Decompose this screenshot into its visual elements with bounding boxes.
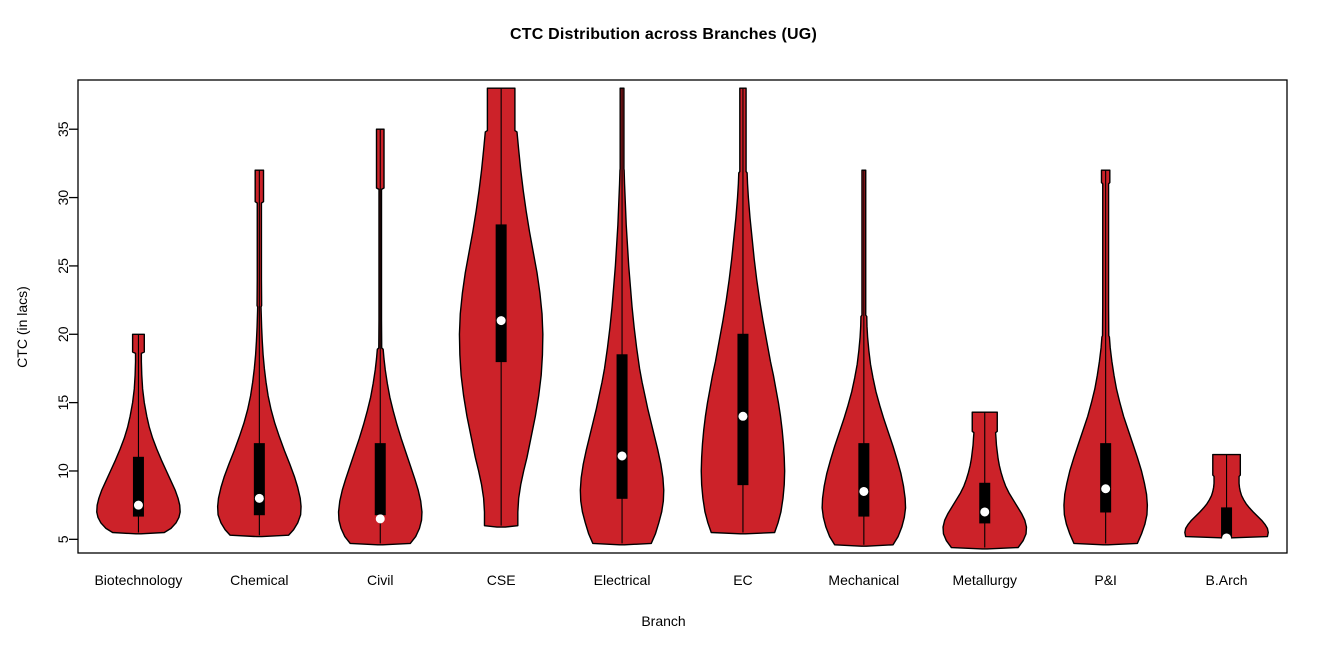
median-marker [1101,485,1109,493]
violin-mechanical [822,170,905,546]
violin-electrical [580,88,663,545]
iqr-box [617,355,627,499]
iqr-box [496,225,506,362]
plot-canvas: 5101520253035BiotechnologyChemicalCivilC… [0,0,1327,653]
x-tick-label: P&I [1094,572,1117,588]
y-tick-label: 20 [55,326,71,342]
median-marker [134,501,142,509]
x-axis-label: Branch [0,613,1327,629]
median-marker [255,494,263,502]
x-tick-label: B.Arch [1206,572,1248,588]
y-tick-label: 25 [55,258,71,274]
x-tick-label: Metallurgy [952,572,1017,588]
violin-chemical [218,170,301,536]
violin-b-arch [1185,455,1268,543]
x-tick-label: EC [733,572,752,588]
iqr-box [859,444,869,516]
x-tick-label: Electrical [594,572,651,588]
violin-metallurgy [943,412,1026,549]
y-tick-label: 30 [55,190,71,206]
median-marker [497,316,505,324]
violin-cse [459,88,542,527]
x-tick-label: Mechanical [828,572,899,588]
iqr-box [1222,508,1232,537]
x-tick-label: Chemical [230,572,288,588]
median-marker [376,515,384,523]
iqr-box [980,483,990,523]
x-tick-label: Civil [367,572,393,588]
median-marker [618,452,626,460]
median-marker [981,508,989,516]
iqr-box [1101,444,1111,512]
y-tick-label: 10 [55,463,71,479]
y-tick-label: 15 [55,395,71,411]
x-tick-label: CSE [487,572,516,588]
violin-biotechnology [97,334,180,534]
chart-title: CTC Distribution across Branches (UG) [0,26,1327,44]
x-tick-label: Biotechnology [94,572,182,588]
median-marker [860,487,868,495]
median-marker [1222,534,1230,542]
y-axis-label: CTC (in lacs) [14,247,30,407]
violin-ec [701,88,784,534]
violin-civil [339,129,422,545]
median-marker [739,412,747,420]
violin-plot-figure: CTC Distribution across Branches (UG) CT… [0,0,1327,653]
y-tick-label: 35 [55,121,71,137]
iqr-box [254,444,264,515]
iqr-box [375,444,385,515]
violin-p-i [1064,170,1147,545]
iqr-box [738,334,748,484]
y-tick-label: 5 [55,535,71,543]
